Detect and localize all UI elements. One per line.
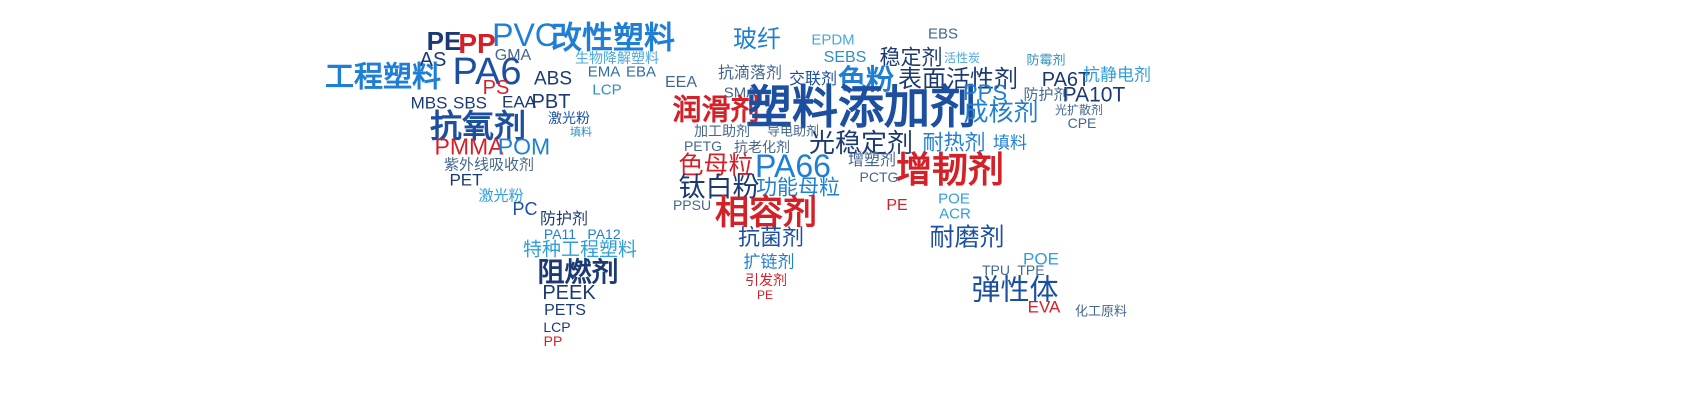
word-pe-mid: PE	[886, 198, 907, 214]
word-gongcheng-suliao: 工程塑料	[325, 64, 441, 93]
word-eba: EBA	[626, 65, 656, 80]
word-ebs: EBS	[928, 27, 958, 42]
word-lcp-bottom: LCP	[543, 320, 570, 334]
word-epdm: EPDM	[811, 33, 854, 48]
word-zengsu-ji: 增塑剂	[848, 153, 896, 169]
word-pc: PC	[512, 200, 537, 218]
word-tianliao-left: 填料	[570, 128, 592, 139]
word-zengren-ji: 增韧剂	[896, 152, 1004, 188]
word-gaixing-suliao: 改性塑料	[551, 23, 675, 54]
word-pmma: PMMA	[435, 136, 504, 159]
word-acr: ACR	[939, 207, 971, 222]
word-pet: PET	[449, 172, 482, 189]
word-huoxing-tan: 活性炭	[944, 52, 980, 64]
word-peek: PEEK	[542, 283, 595, 303]
word-cpe: CPE	[1068, 116, 1097, 130]
word-cloud-canvas: PEPPPVCGMA改性塑料生物降解塑料玻纤EPDMEBSASPA6ABSEMA…	[0, 0, 1707, 400]
word-yinfa-ji: 引发剂	[745, 273, 787, 287]
word-eva: EVA	[1028, 299, 1061, 316]
word-abs: ABS	[534, 70, 572, 89]
word-pets: PETS	[544, 303, 586, 319]
word-kuolian-ji: 扩链剂	[744, 254, 795, 271]
word-lcp-top: LCP	[592, 83, 621, 98]
word-pe-bottom: PE	[757, 289, 773, 301]
word-ema: EMA	[588, 65, 621, 80]
word-eea: EEA	[665, 75, 697, 91]
word-hehe-ji: 成核剂	[963, 101, 1038, 126]
word-poe-upper: POE	[938, 192, 970, 207]
word-ps: PS	[483, 78, 510, 98]
word-huagong-yuanliao: 化工原料	[1075, 305, 1127, 318]
word-bo-xian: 玻纤	[733, 28, 781, 52]
word-pbt: PBT	[532, 92, 571, 112]
word-kangdiluo-ji: 抗滴落剂	[718, 66, 782, 82]
word-kangjingdian-ji: 抗静电剂	[1083, 67, 1151, 84]
word-naimo-ji: 耐磨剂	[929, 226, 1004, 251]
word-jiagong-zhuji: 加工助剂	[694, 124, 750, 138]
word-pom: POM	[498, 136, 550, 159]
word-jiguang-fen-top: 激光粉	[548, 111, 590, 125]
word-pp-bottom: PP	[544, 334, 563, 348]
word-ppsu: PPSU	[673, 198, 711, 212]
word-pctg: PCTG	[860, 170, 899, 184]
word-kangjun-ji: 抗菌剂	[738, 227, 804, 249]
word-fangmei-ji: 防霉剂	[1026, 54, 1065, 67]
